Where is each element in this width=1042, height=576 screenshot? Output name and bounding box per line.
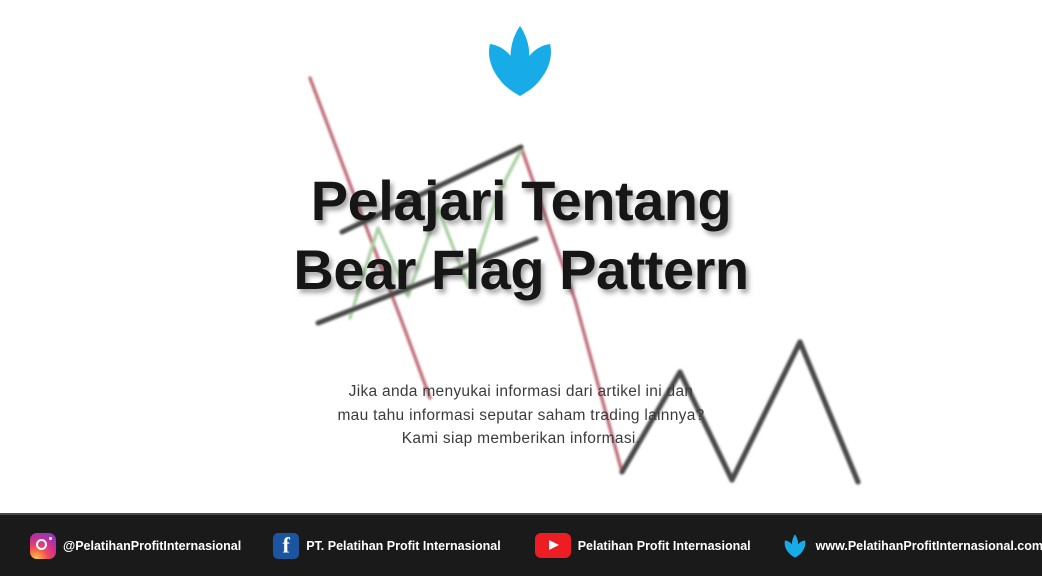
- subtitle-line-2: mau tahu informasi seputar saham trading…: [0, 404, 1042, 428]
- subtitle-line-3: Kami siap memberikan informasi.: [0, 427, 1042, 451]
- social-item-instagram[interactable]: @PelatihanProfitInternasional: [30, 533, 241, 559]
- facebook-icon: [273, 533, 299, 559]
- website-lotus-icon: [781, 533, 809, 559]
- page-title-line-1: Pelajari Tentang: [0, 166, 1042, 235]
- subtitle-text: Jika anda menyukai informasi dari artike…: [0, 380, 1042, 451]
- lotus-leaf-logo-icon: [479, 22, 561, 100]
- social-item-facebook[interactable]: PT. Pelatihan Profit Internasional: [273, 533, 500, 559]
- page-title-line-2: Bear Flag Pattern: [0, 235, 1042, 304]
- social-footer-bar: @PelatihanProfitInternasional PT. Pelati…: [0, 513, 1042, 576]
- social-item-youtube[interactable]: Pelatihan Profit Internasional: [535, 533, 751, 558]
- instagram-icon: [30, 533, 56, 559]
- facebook-page-label: PT. Pelatihan Profit Internasional: [306, 539, 500, 553]
- poster-canvas: Pelajari Tentang Bear Flag Pattern Jika …: [0, 0, 1042, 576]
- social-item-website[interactable]: www.PelatihanProfitInternasional.com: [781, 533, 1042, 559]
- subtitle-line-1: Jika anda menyukai informasi dari artike…: [0, 380, 1042, 404]
- instagram-handle-label: @PelatihanProfitInternasional: [63, 539, 241, 553]
- youtube-channel-label: Pelatihan Profit Internasional: [578, 539, 751, 553]
- youtube-icon: [535, 533, 571, 558]
- website-url-label: www.PelatihanProfitInternasional.com: [816, 539, 1042, 553]
- page-title: Pelajari Tentang Bear Flag Pattern: [0, 166, 1042, 305]
